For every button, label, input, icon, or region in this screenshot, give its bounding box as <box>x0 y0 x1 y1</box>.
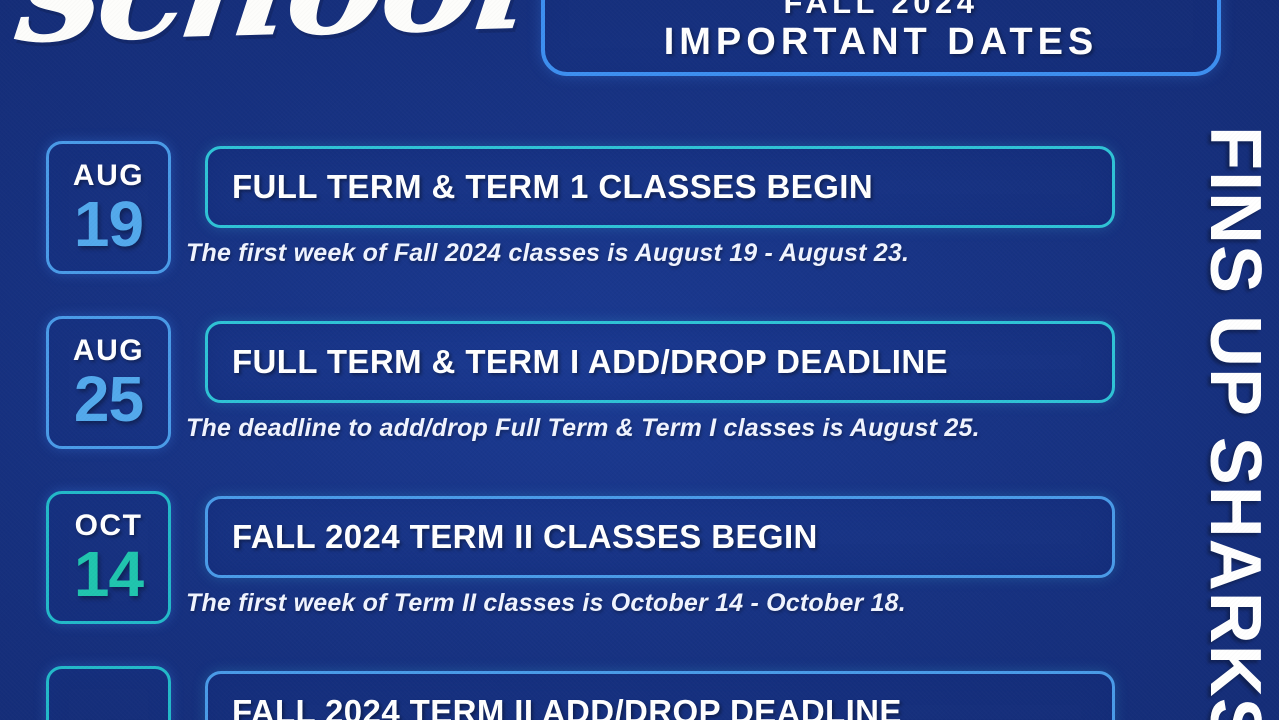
date-month-label: OCT <box>75 511 143 541</box>
event-title-box: FALL 2024 TERM II ADD/DROP DEADLINE <box>205 671 1115 720</box>
side-slogan: FINS UP SHARKS <box>1185 126 1279 720</box>
header-title-box: FALL 2024 IMPORTANT DATES <box>541 0 1221 76</box>
event-title-text: FULL TERM & TERM 1 CLASSES BEGIN <box>208 169 873 205</box>
event-title-box: FULL TERM & TERM 1 CLASSES BEGIN <box>205 146 1115 228</box>
event-title-box: FULL TERM & TERM I ADD/DROP DEADLINE <box>205 321 1115 403</box>
poster-canvas: school FALL 2024 IMPORTANT DATES FINS UP… <box>0 0 1279 720</box>
date-chip: OCT <box>46 666 171 720</box>
date-day-label: 25 <box>74 368 143 430</box>
event-title-text: FALL 2024 TERM II CLASSES BEGIN <box>208 519 818 555</box>
date-row: OCT 14 FALL 2024 TERM II CLASSES BEGIN T… <box>0 488 1160 663</box>
event-title-text: FULL TERM & TERM I ADD/DROP DEADLINE <box>208 344 948 380</box>
date-month-label: AUG <box>73 336 144 366</box>
script-heading-school: school <box>4 0 502 114</box>
date-chip: AUG 25 <box>46 316 171 449</box>
event-title-box: FALL 2024 TERM II CLASSES BEGIN <box>205 496 1115 578</box>
date-day-label: 14 <box>74 543 143 605</box>
date-day-label: 19 <box>74 193 143 255</box>
event-description: The deadline to add/drop Full Term & Ter… <box>186 413 1136 443</box>
header-line-fall-2024: FALL 2024 <box>783 0 978 20</box>
header-line-important-dates: IMPORTANT DATES <box>664 20 1099 64</box>
side-slogan-text: FINS UP SHARKS <box>1199 126 1271 720</box>
event-description: The first week of Fall 2024 classes is A… <box>186 238 1136 268</box>
date-month-label: OCT <box>75 717 143 720</box>
date-row: AUG 19 FULL TERM & TERM 1 CLASSES BEGIN … <box>0 138 1160 313</box>
important-dates-list: AUG 19 FULL TERM & TERM 1 CLASSES BEGIN … <box>0 138 1160 720</box>
date-row: AUG 25 FULL TERM & TERM I ADD/DROP DEADL… <box>0 313 1160 488</box>
event-title-text: FALL 2024 TERM II ADD/DROP DEADLINE <box>208 694 902 720</box>
date-month-label: AUG <box>73 161 144 191</box>
date-chip: OCT 14 <box>46 491 171 624</box>
date-chip: AUG 19 <box>46 141 171 274</box>
event-description: The first week of Term II classes is Oct… <box>186 588 1136 618</box>
date-row: OCT FALL 2024 TERM II ADD/DROP DEADLINE <box>0 663 1160 720</box>
